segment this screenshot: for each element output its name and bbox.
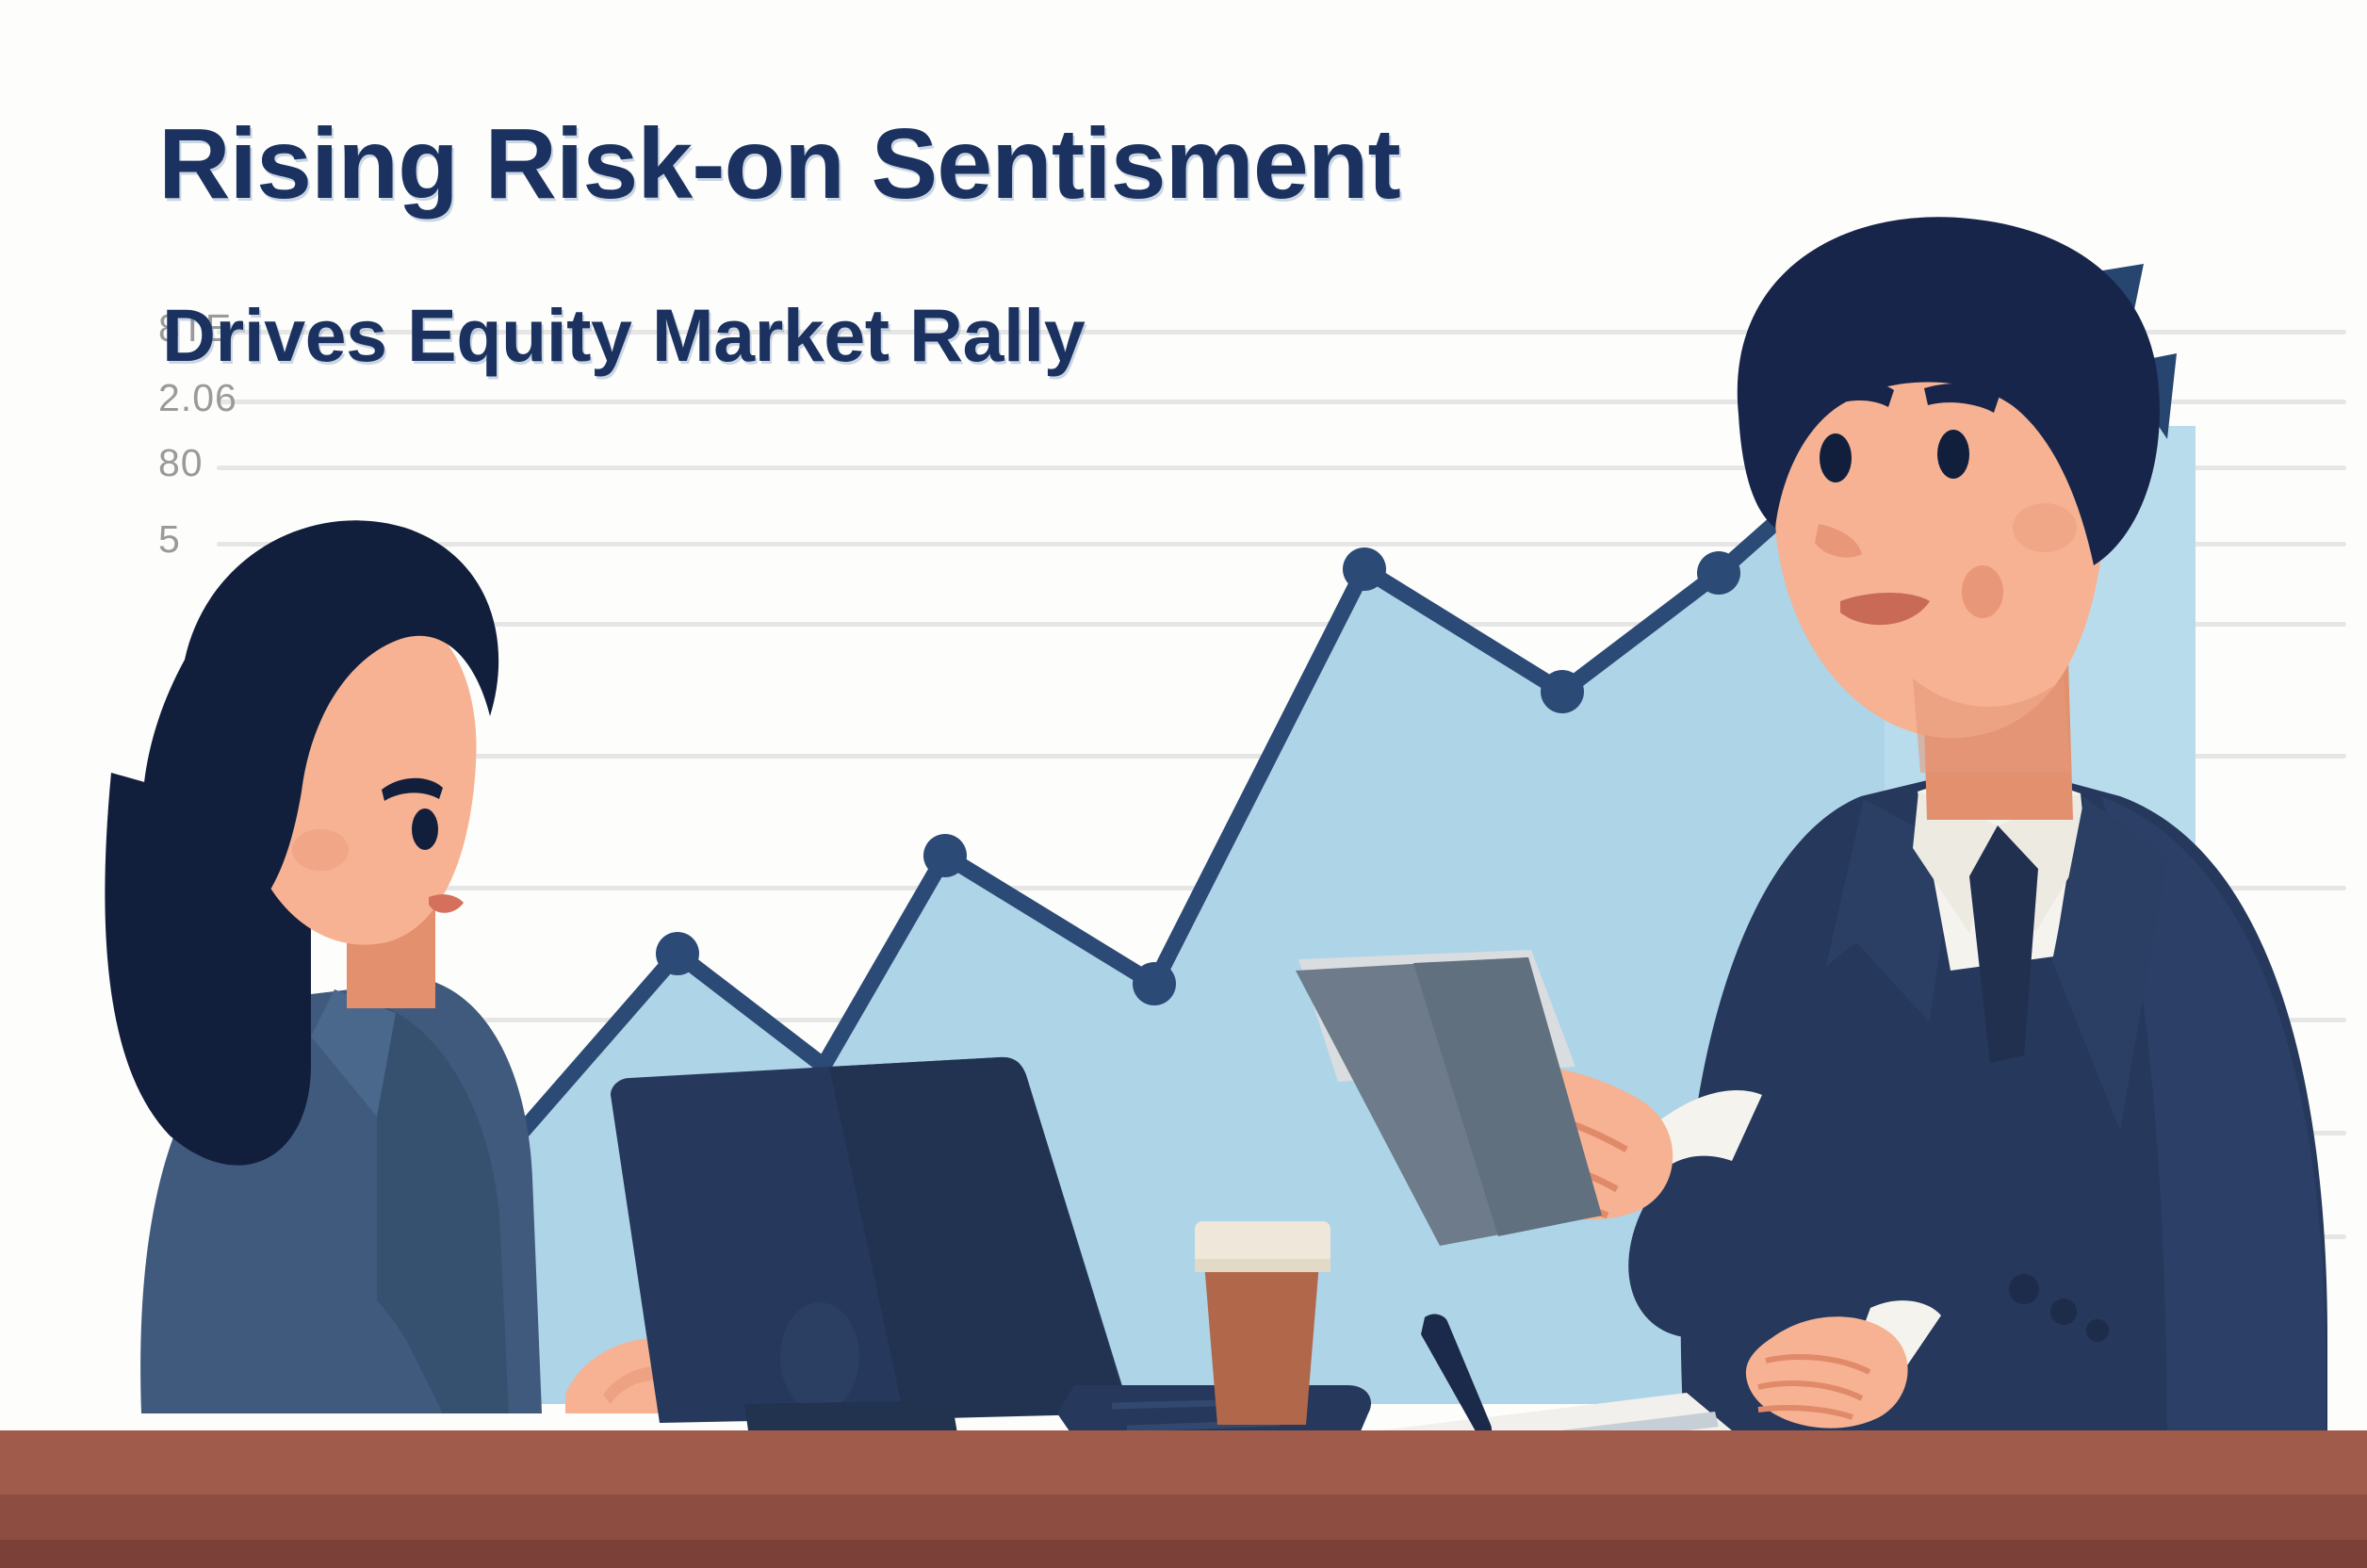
- coffee-cup-body: [1204, 1263, 1319, 1425]
- scene-graphic: [0, 0, 2367, 1568]
- man-ear-inner: [1962, 565, 2003, 618]
- laptop-logo: [780, 1302, 859, 1412]
- illustration-canvas: 8TE 2.06 80 5: [0, 0, 2367, 1568]
- desk: [0, 1430, 2367, 1568]
- woman-eye: [412, 808, 438, 850]
- man-eye-right: [1937, 430, 1969, 479]
- man-eye-left: [1820, 433, 1852, 482]
- businessman-right: [1426, 217, 2327, 1470]
- pen: [1421, 1315, 1492, 1440]
- coffee-cup-lid-rim: [1195, 1259, 1330, 1272]
- man-suit-button: [2009, 1274, 2039, 1304]
- woman-cheek: [292, 829, 349, 871]
- tablet: [1296, 950, 1602, 1246]
- businesswoman-left: [0, 0, 711, 1413]
- desk-top: [0, 1430, 2367, 1500]
- man-suit-button: [2050, 1298, 2077, 1325]
- man-cheek: [2013, 503, 2077, 552]
- desk-edge: [0, 1494, 2367, 1545]
- desk-front: [0, 1540, 2367, 1568]
- man-suit-button: [2086, 1319, 2109, 1342]
